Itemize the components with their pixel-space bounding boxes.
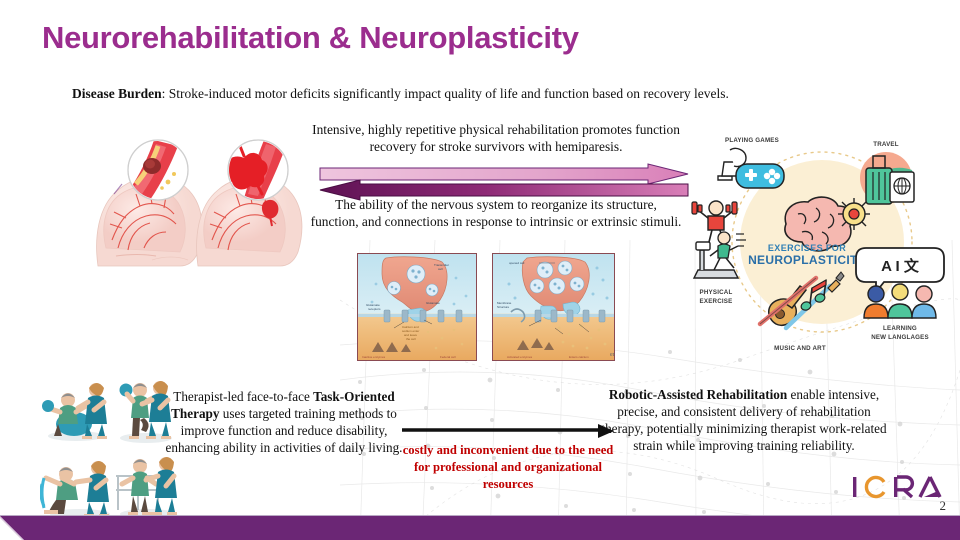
svg-text:Federal cell: Federal cell [440,355,456,359]
svg-text:the cell: the cell [406,337,416,341]
label-physical-exercise-2: EXERCISE [700,298,733,305]
label-physical-exercise-1: PHYSICAL [700,289,733,296]
neuron-node-icon [838,198,870,230]
therapy-resistance-band [41,461,110,518]
label-learning-2: NEW LANGLAGES [871,334,929,341]
page-number: 2 [940,498,947,514]
hemorrhagic-stroke-head [197,140,302,266]
disease-burden-line: Disease Burden: Stroke-induced motor def… [72,86,729,102]
svg-text:Enters calcium: Enters calcium [569,355,589,359]
svg-text:Activated enzymes: Activated enzymes [507,355,533,359]
therapy-ball-seated [42,383,107,441]
ischemic-stroke-head [97,140,202,266]
speech-bubble-text: A I 文 [881,257,920,275]
synapse-caption: er [610,352,615,358]
svg-text:Inactive enzymes: Inactive enzymes [362,355,386,359]
svg-text:opened cell: opened cell [509,261,525,265]
disease-burden-label: Disease Burden [72,86,162,101]
label-travel: TRAVEL [873,141,899,148]
therapy-parallel-bars [116,457,177,518]
three-people-icon [864,284,936,318]
label-playing-games: PLAYING GAMES [725,137,779,144]
robotic-rehab-text: Robotic-Assisted Rehabilitation enable i… [596,386,892,455]
slide-canvas: Neurorehabilitation & Neuroplasticity Di… [0,0,960,540]
svg-text:Glutamate: Glutamate [426,301,440,305]
svg-text:cell: cell [438,267,443,271]
disease-burden-text: : Stroke-induced motor deficits signific… [162,86,729,101]
infographic-center-line2: NEUROPLASTICITY [748,253,866,267]
page-title: Neurorehabilitation & Neuroplasticity [42,20,579,56]
label-learning-1: LEARNING [883,325,917,332]
robotic-bold: Robotic-Assisted Rehabilitation [609,387,787,402]
label-music-art: MUSIC AND ART [774,345,826,352]
svg-text:receptors: receptors [368,307,381,311]
travel-icon [860,152,914,204]
synapse-diagram-after: opened cell MembraneStructure Activated … [492,253,615,361]
neuroplasticity-infographic: EXERCISES FOR NEUROPLASTICITY PLAYING GA… [690,128,948,356]
stroke-brain-illustration [92,128,304,268]
footer-bar [0,516,960,540]
synapse-diagram-before: Transmittercell Glutamatereceptors Gluta… [357,253,477,361]
icra-logo [850,474,942,500]
task-oriented-therapy-text: Therapist-led face-to-face Task-Oriented… [160,388,408,457]
neuroplasticity-definition-text: The ability of the nervous system to reo… [310,196,682,230]
task-prefix: Therapist-led face-to-face [173,389,313,404]
physical-exercise-icon [692,201,746,278]
costly-caption: costly and inconvenient due to the need … [400,442,616,493]
transition-arrow [402,424,614,438]
svg-text:Structure: Structure [497,305,510,309]
playing-games-icon [718,148,784,188]
intensive-rehab-text: Intensive, highly repetitive physical re… [296,121,696,155]
infographic-center-line1: EXERCISES FOR [768,243,846,253]
